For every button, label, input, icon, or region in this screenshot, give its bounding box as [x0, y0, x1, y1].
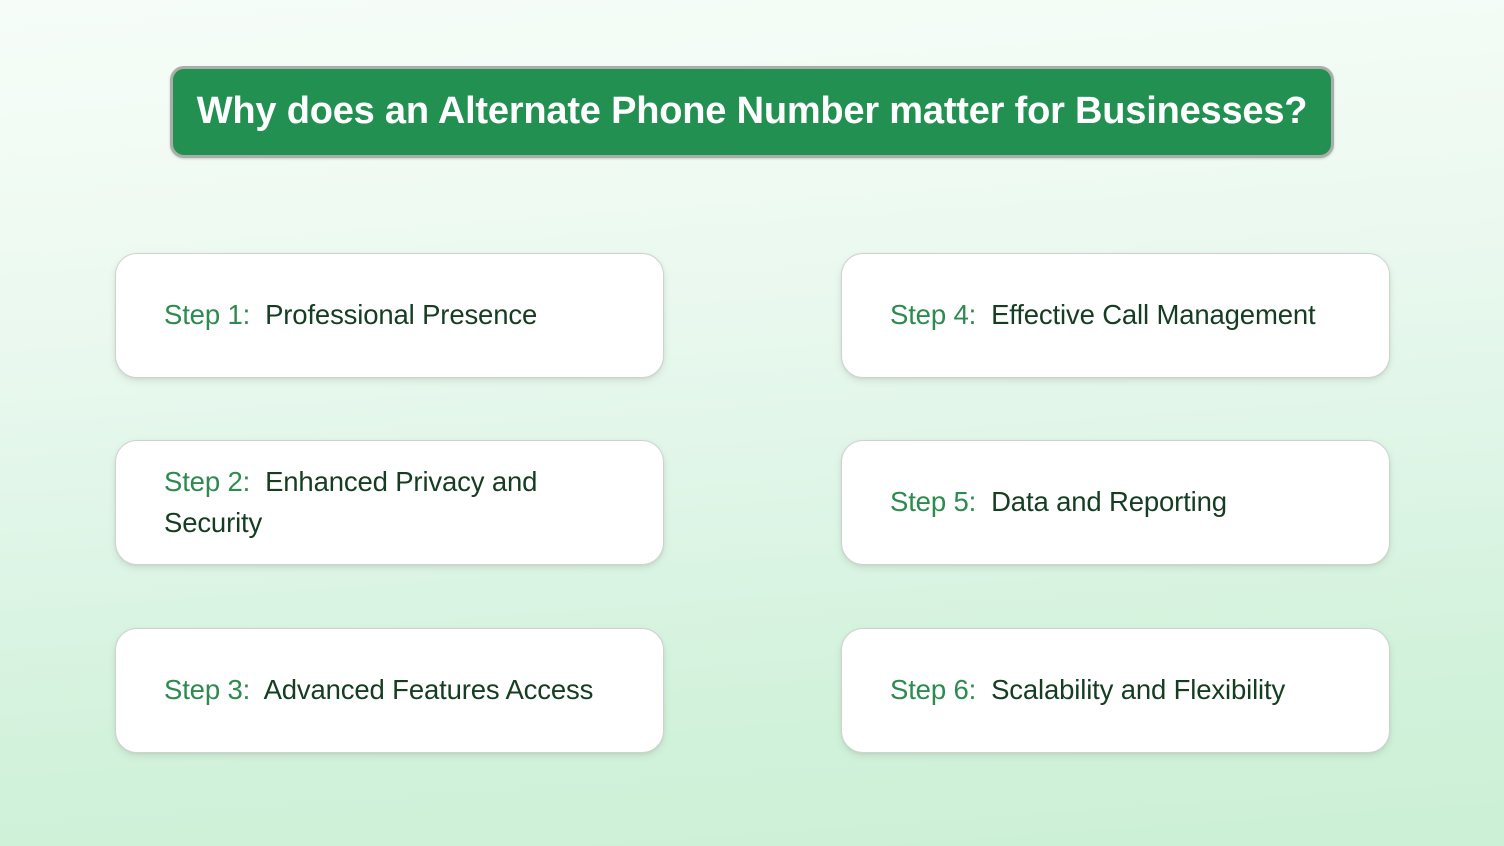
slide-canvas: Why does an Alternate Phone Number matte…	[0, 0, 1504, 846]
step-card-6[interactable]: Step 6: Scalability and Flexibility	[841, 628, 1390, 753]
step-card-2-label: Step 2:	[164, 466, 258, 497]
step-card-3-text: Step 3: Advanced Features Access	[164, 670, 593, 711]
step-card-4[interactable]: Step 4: Effective Call Management	[841, 253, 1390, 378]
step-card-1-text: Step 1: Professional Presence	[164, 295, 537, 336]
step-card-5-label: Step 5:	[890, 486, 984, 517]
step-card-4-body: Effective Call Management	[991, 299, 1315, 330]
step-card-6-label: Step 6:	[890, 674, 984, 705]
title-banner: Why does an Alternate Phone Number matte…	[170, 66, 1334, 158]
step-card-6-text: Step 6: Scalability and Flexibility	[890, 670, 1285, 711]
step-card-2-text: Step 2: Enhanced Privacy and Security	[164, 462, 629, 543]
step-card-4-label: Step 4:	[890, 299, 984, 330]
step-card-3-label: Step 3:	[164, 674, 258, 705]
page-title: Why does an Alternate Phone Number matte…	[197, 91, 1308, 133]
step-card-1-body: Professional Presence	[265, 299, 537, 330]
step-card-4-text: Step 4: Effective Call Management	[890, 295, 1315, 336]
step-card-5[interactable]: Step 5: Data and Reporting	[841, 440, 1390, 565]
step-card-3[interactable]: Step 3: Advanced Features Access	[115, 628, 664, 753]
step-card-1-label: Step 1:	[164, 299, 258, 330]
step-card-5-text: Step 5: Data and Reporting	[890, 482, 1227, 523]
step-card-6-body: Scalability and Flexibility	[991, 674, 1285, 705]
step-card-1[interactable]: Step 1: Professional Presence	[115, 253, 664, 378]
step-card-3-body: Advanced Features Access	[264, 674, 594, 705]
step-card-5-body: Data and Reporting	[991, 486, 1227, 517]
step-card-2[interactable]: Step 2: Enhanced Privacy and Security	[115, 440, 664, 565]
